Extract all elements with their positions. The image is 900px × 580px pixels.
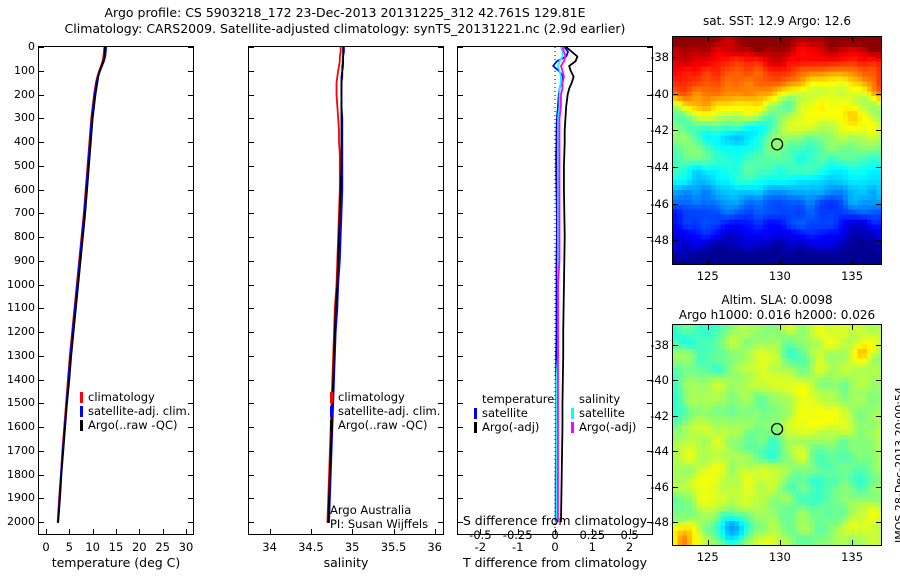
map-sst-ylabel: -46 [650, 197, 669, 211]
temp-xlabel: 25 [155, 540, 170, 554]
diff-line-temperature-argo-adj- [561, 47, 577, 522]
temp-ytick [39, 213, 44, 214]
map-sla-xtick [708, 540, 709, 545]
temp-ytick-right [188, 522, 193, 523]
legend-swatch-sal-satellite [571, 408, 574, 419]
legend-item-sal-satellite: satellite [571, 406, 636, 420]
temp-ylabel: 300 [14, 111, 35, 124]
profile-line-satellite-adj-clim- [58, 47, 106, 522]
temp-ytick [39, 356, 44, 357]
temp-ylabel: 1000 [7, 278, 35, 291]
diff-ytick-right [647, 118, 652, 119]
sal-ytick [249, 427, 254, 428]
diff-bottom-xlabel: 0 [551, 540, 558, 554]
sal-ytick-right [438, 380, 443, 381]
sal-ytick-right [438, 261, 443, 262]
temp-ytick [39, 95, 44, 96]
temp-ytick [39, 237, 44, 238]
temp-ytick-right [188, 213, 193, 214]
temp-xlabel: 20 [132, 540, 147, 554]
temp-ytick [39, 427, 44, 428]
sal-ytick [249, 142, 254, 143]
legend-header-salinity: salinity [579, 392, 636, 406]
legend-item-argo: Argo(..raw -QC) [80, 418, 190, 432]
diff-top-xlabel: 0.5 [620, 528, 638, 542]
diff-ytick [458, 403, 463, 404]
temp-ytick-right [188, 451, 193, 452]
argo-australia-line2: PI: Susan Wijffels [330, 517, 428, 531]
diff-ytick [458, 308, 463, 309]
map-sla-ylabel: -46 [650, 480, 669, 494]
temp-ytick-right [188, 308, 193, 309]
sal-xlabel: 35 [345, 540, 360, 554]
profile-line-argo-raw-qc- [58, 47, 105, 522]
map-sst-xlabel: 130 [769, 269, 791, 283]
diff-ytick [458, 142, 463, 143]
map-sla-ytick-right [876, 451, 881, 452]
temp-ytick [39, 380, 44, 381]
map-sla-xtick [780, 540, 781, 545]
diff-ytick [458, 498, 463, 499]
temp-ytick-right [188, 47, 193, 48]
legend-label-satellite-adj: satellite-adj. clim. [88, 404, 190, 418]
diff-ytick-right [647, 498, 652, 499]
map-sla-ytick-right [876, 487, 881, 488]
map-sla-ylabel: -38 [650, 338, 669, 352]
temp-ylabel: 1700 [7, 444, 35, 457]
temp-ylabel: 700 [14, 206, 35, 219]
temperature-profile-plot [39, 47, 193, 534]
temp-ytick-right [188, 71, 193, 72]
map-sla-title: Altim. SLA: 0.0098 Argo h1000: 0.016 h20… [672, 293, 882, 323]
sal-ytick [249, 308, 254, 309]
map-sla-ylabel: -40 [650, 373, 669, 387]
map-sla-ytick [673, 416, 678, 417]
temp-ytick-right [188, 190, 193, 191]
diff-ytick [458, 380, 463, 381]
sal-ytick [249, 285, 254, 286]
map-sst-xlabel: 135 [841, 269, 863, 283]
temp-xlabel: 5 [66, 540, 73, 554]
temp-ytick [39, 71, 44, 72]
map-sla-ylabel: -42 [650, 409, 669, 423]
map-sst-ylabel: -40 [650, 87, 669, 101]
map-sla-xlabel: 130 [769, 550, 791, 564]
sal-xtick [435, 529, 436, 534]
map-sst-ytick [673, 94, 678, 95]
legend-header-label-temperature: temperature [482, 392, 554, 406]
diff-ytick [458, 285, 463, 286]
diff-ytick-right [647, 261, 652, 262]
sal-ytick-right [438, 285, 443, 286]
sal-ytick-right [438, 332, 443, 333]
difference-profile-plot [458, 47, 652, 534]
legend-label-temp-argo-adj: Argo(-adj) [482, 420, 539, 434]
temp-xtick [139, 529, 140, 534]
diff-ytick [458, 190, 463, 191]
map-sla-ytick [673, 522, 678, 523]
sal-ytick [249, 380, 254, 381]
salinity-profile-plot [249, 47, 443, 534]
sal-xtick [270, 529, 271, 534]
sal-ytick-right [438, 451, 443, 452]
map-sst-ytick [673, 57, 678, 58]
map-sst-xlabel: 125 [697, 269, 719, 283]
map-sst-xtick [780, 259, 781, 264]
temp-xtick [46, 529, 47, 534]
sal-ytick [249, 451, 254, 452]
temp-ytick-right [188, 380, 193, 381]
temp-ylabel: 1600 [7, 420, 35, 433]
diff-ytick [458, 475, 463, 476]
map-sst-xtick [852, 259, 853, 264]
diff-ytick [458, 47, 463, 48]
sal-ytick-right [438, 522, 443, 523]
sal-ytick [249, 71, 254, 72]
map-sst-title: sat. SST: 12.9 Argo: 12.6 [672, 14, 882, 29]
panel-temperature [38, 46, 194, 535]
map-sla-ytick-right [876, 380, 881, 381]
temp-ytick [39, 166, 44, 167]
map-sst-ytick [673, 130, 678, 131]
legend-label-climatology-sal: climatology [338, 390, 405, 404]
map-sla-ytick-right [876, 345, 881, 346]
temp-ylabel: 600 [14, 183, 35, 196]
sal-ytick-right [438, 47, 443, 48]
diff-ytick-right [647, 213, 652, 214]
sal-ytick-right [438, 166, 443, 167]
legend-item-sal-argo-adj: Argo(-adj) [571, 420, 636, 434]
legend-swatch-climatology [80, 392, 83, 403]
map-sst-ylabel: -38 [650, 50, 669, 64]
temp-xtick [116, 529, 117, 534]
sal-ytick [249, 190, 254, 191]
legend-swatch-temp-satellite [474, 408, 477, 419]
sal-ytick-right [438, 142, 443, 143]
map-sst-ylabel: -42 [650, 123, 669, 137]
diff-bottom-xlabel: 1 [589, 540, 596, 554]
temp-ytick-right [188, 261, 193, 262]
temp-ylabel: 900 [14, 254, 35, 267]
temp-ytick [39, 190, 44, 191]
temp-xlabel: 10 [85, 540, 100, 554]
map-sst-ytick-right [876, 167, 881, 168]
map-sst-xtick-top [780, 37, 781, 42]
temp-ytick-right [188, 332, 193, 333]
sal-ytick-right [438, 475, 443, 476]
diff-ytick [458, 427, 463, 428]
argo-australia-annotation: Argo Australia PI: Susan Wijffels [330, 503, 428, 531]
diff-ytick [458, 451, 463, 452]
map-sst-ylabel: -48 [650, 233, 669, 247]
temp-xtick [163, 529, 164, 534]
difference-legend-temperature: temperature satellite Argo(-adj) [474, 392, 554, 434]
sal-ytick-right [438, 95, 443, 96]
legend-item-satellite-adj-sal: satellite-adj. clim. [330, 404, 440, 418]
diff-ytick [458, 95, 463, 96]
legend-swatch-argo-sal [330, 420, 333, 431]
diff-ytick-right [647, 356, 652, 357]
legend-item-argo-sal: Argo(..raw -QC) [330, 418, 440, 432]
map-sst [672, 36, 882, 265]
temp-xtick [186, 529, 187, 534]
title-line-1: Argo profile: CS 5903218_172 23-Dec-2013… [35, 5, 655, 21]
diff-ytick [458, 261, 463, 262]
sal-xlabel: 34 [262, 540, 277, 554]
temp-ytick [39, 261, 44, 262]
sal-ytick [249, 498, 254, 499]
sal-ytick [249, 356, 254, 357]
temp-ytick-right [188, 118, 193, 119]
diff-bottom-xlabel: -1 [512, 540, 523, 554]
salinity-axis-title: salinity [324, 555, 369, 570]
temp-ylabel: 400 [14, 135, 35, 148]
diff-top-xlabel: -0.5 [469, 528, 491, 542]
sal-ytick [249, 213, 254, 214]
diff-ytick [458, 332, 463, 333]
map-sst-xtick-top [708, 37, 709, 42]
map-sla-xtick [852, 540, 853, 545]
diff-ytick-right [647, 190, 652, 191]
legend-header-label-salinity: salinity [579, 392, 620, 406]
diff-ytick-right [647, 308, 652, 309]
legend-label-sal-argo-adj: Argo(-adj) [579, 420, 636, 434]
sal-ytick [249, 403, 254, 404]
diff-ytick-right [647, 403, 652, 404]
diff-ytick-right [647, 285, 652, 286]
sst-field [673, 37, 881, 264]
legend-swatch-climatology-sal [330, 392, 333, 403]
temp-xlabel: 30 [179, 540, 194, 554]
diff-top-xlabel: 0 [551, 528, 558, 542]
sal-ytick [249, 261, 254, 262]
temp-ylabel: 1500 [7, 396, 35, 409]
map-sla-ytick-right [876, 416, 881, 417]
map-sla-canvas [673, 325, 881, 545]
map-sst-xtick-top [852, 37, 853, 42]
sal-ytick-right [438, 356, 443, 357]
diff-ytick-right [647, 142, 652, 143]
sal-ytick [249, 522, 254, 523]
diff-bottom-xlabel: 2 [626, 540, 633, 554]
map-sla-xtick-top [708, 325, 709, 330]
map-sla-ytick [673, 487, 678, 488]
temp-ylabel: 1400 [7, 373, 35, 386]
map-sst-xtick [708, 259, 709, 264]
map-sst-ytick [673, 240, 678, 241]
legend-item-temp-satellite: satellite [474, 406, 554, 420]
diff-ytick-right [647, 427, 652, 428]
diff-top-xlabel: 0.25 [579, 528, 605, 542]
temp-ytick [39, 118, 44, 119]
sal-ytick [249, 95, 254, 96]
map-sst-ylabel: -44 [650, 160, 669, 174]
temp-ytick-right [188, 142, 193, 143]
map-sla-ytick [673, 345, 678, 346]
map-sla-title-line1: Altim. SLA: 0.0098 [672, 293, 882, 308]
diff-ytick [458, 237, 463, 238]
argo-australia-line1: Argo Australia [330, 503, 428, 517]
diff-ytick-right [647, 332, 652, 333]
temp-ytick [39, 142, 44, 143]
map-sst-ytick-right [876, 130, 881, 131]
temperature-axis-title: temperature (deg C) [52, 555, 181, 570]
difference-legend-salinity: salinity satellite Argo(-adj) [571, 392, 636, 434]
sal-xlabel: 35.5 [381, 540, 407, 554]
map-sst-ytick-right [876, 57, 881, 58]
legend-label-argo: Argo(..raw -QC) [88, 418, 178, 432]
temp-ytick [39, 47, 44, 48]
sal-ytick [249, 475, 254, 476]
temp-xtick [69, 529, 70, 534]
temp-xtick [93, 529, 94, 534]
temp-ytick-right [188, 356, 193, 357]
sal-ytick-right [438, 498, 443, 499]
map-sst-canvas [673, 37, 881, 264]
sal-ytick-right [438, 213, 443, 214]
legend-item-temp-argo-adj: Argo(-adj) [474, 420, 554, 434]
diff-ytick-right [647, 47, 652, 48]
map-sla-ylabel: -48 [650, 515, 669, 529]
map-sla-xtick-top [780, 325, 781, 330]
sal-xtick [311, 529, 312, 534]
imos-timestamp: IMOS 28-Dec-2013 20:00:54 [893, 387, 900, 543]
temp-ylabel: 200 [14, 88, 35, 101]
temp-ytick-right [188, 475, 193, 476]
difference-axis-title-top: S difference from climatology [463, 513, 647, 528]
diff-bottom-xlabel: -2 [475, 540, 486, 554]
map-sst-ytick-right [876, 94, 881, 95]
temp-ylabel: 1200 [7, 325, 35, 338]
legend-label-argo-sal: Argo(..raw -QC) [338, 418, 428, 432]
map-sla-ylabel: -44 [650, 444, 669, 458]
map-sla-xtick-top [852, 325, 853, 330]
diff-ytick-right [647, 475, 652, 476]
figure-title: Argo profile: CS 5903218_172 23-Dec-2013… [35, 5, 655, 37]
sal-ytick [249, 47, 254, 48]
difference-axis-title-bottom: T difference from climatology [463, 555, 647, 570]
diff-ytick [458, 71, 463, 72]
temp-ytick [39, 451, 44, 452]
diff-ytick [458, 213, 463, 214]
legend-header-temperature: temperature [482, 392, 554, 406]
sal-ytick-right [438, 118, 443, 119]
legend-label-temp-satellite: satellite [482, 406, 528, 420]
temp-ylabel: 1100 [7, 301, 35, 314]
temp-ylabel: 100 [14, 64, 35, 77]
panel-difference [457, 46, 653, 535]
sal-ytick-right [438, 190, 443, 191]
temp-ytick [39, 403, 44, 404]
legend-label-satellite-adj-sal: satellite-adj. clim. [338, 404, 440, 418]
map-sla-ytick [673, 380, 678, 381]
sal-ytick [249, 237, 254, 238]
title-line-2: Climatology: CARS2009. Satellite-adjuste… [35, 21, 655, 37]
temp-ytick [39, 285, 44, 286]
sal-ytick [249, 166, 254, 167]
temp-ytick-right [188, 95, 193, 96]
temp-xlabel: 15 [109, 540, 124, 554]
sal-ytick [249, 118, 254, 119]
map-sla-ytick-right [876, 522, 881, 523]
temp-ylabel: 0 [28, 40, 35, 53]
legend-item-satellite-adj: satellite-adj. clim. [80, 404, 190, 418]
legend-swatch-temp-argo-adj [474, 422, 477, 433]
legend-item-climatology-sal: climatology [330, 390, 440, 404]
map-sst-ytick [673, 204, 678, 205]
temp-ylabel: 800 [14, 230, 35, 243]
legend-swatch-satellite-adj [80, 406, 83, 417]
temp-ylabel: 1300 [7, 349, 35, 362]
map-sla-xlabel: 125 [697, 550, 719, 564]
sal-ytick-right [438, 237, 443, 238]
temp-ylabel: 500 [14, 159, 35, 172]
legend-swatch-argo [80, 420, 83, 431]
figure-root: Argo profile: CS 5903218_172 23-Dec-2013… [0, 0, 900, 580]
temp-ytick [39, 332, 44, 333]
map-sla-xlabel: 135 [841, 550, 863, 564]
legend-swatch-sal-argo-adj [571, 422, 574, 433]
map-sst-ytick-right [876, 204, 881, 205]
temp-ylabel: 2000 [7, 515, 35, 528]
temp-ytick-right [188, 498, 193, 499]
legend-label-sal-satellite: satellite [579, 406, 625, 420]
temp-ylabel: 1900 [7, 491, 35, 504]
temp-ytick [39, 308, 44, 309]
temp-ytick [39, 498, 44, 499]
temp-ytick [39, 522, 44, 523]
profile-line-climatology [58, 47, 105, 522]
diff-top-xlabel: -0.25 [503, 528, 533, 542]
panel-salinity [248, 46, 444, 535]
temp-ytick [39, 475, 44, 476]
temp-xlabel: 0 [42, 540, 49, 554]
diff-ytick [458, 118, 463, 119]
sal-xlabel: 36 [427, 540, 442, 554]
diff-ytick-right [647, 71, 652, 72]
diff-ytick [458, 166, 463, 167]
map-sla [672, 324, 882, 546]
temp-ylabel: 1800 [7, 468, 35, 481]
map-sla-title-line2: Argo h1000: 0.016 h2000: 0.026 [672, 308, 882, 323]
salinity-legend: climatology satellite-adj. clim. Argo(..… [330, 390, 440, 432]
legend-swatch-satellite-adj-sal [330, 406, 333, 417]
map-sst-ytick-right [876, 240, 881, 241]
sal-ytick-right [438, 308, 443, 309]
legend-label-climatology: climatology [88, 390, 155, 404]
map-sla-ytick [673, 451, 678, 452]
sal-ytick-right [438, 71, 443, 72]
temperature-legend: climatology satellite-adj. clim. Argo(..… [80, 390, 190, 432]
diff-ytick [458, 356, 463, 357]
temp-ytick-right [188, 166, 193, 167]
temp-ytick-right [188, 237, 193, 238]
sal-ytick [249, 332, 254, 333]
sal-xlabel: 34.5 [298, 540, 324, 554]
legend-item-climatology: climatology [80, 390, 190, 404]
map-sst-ytick [673, 167, 678, 168]
temp-ytick-right [188, 285, 193, 286]
